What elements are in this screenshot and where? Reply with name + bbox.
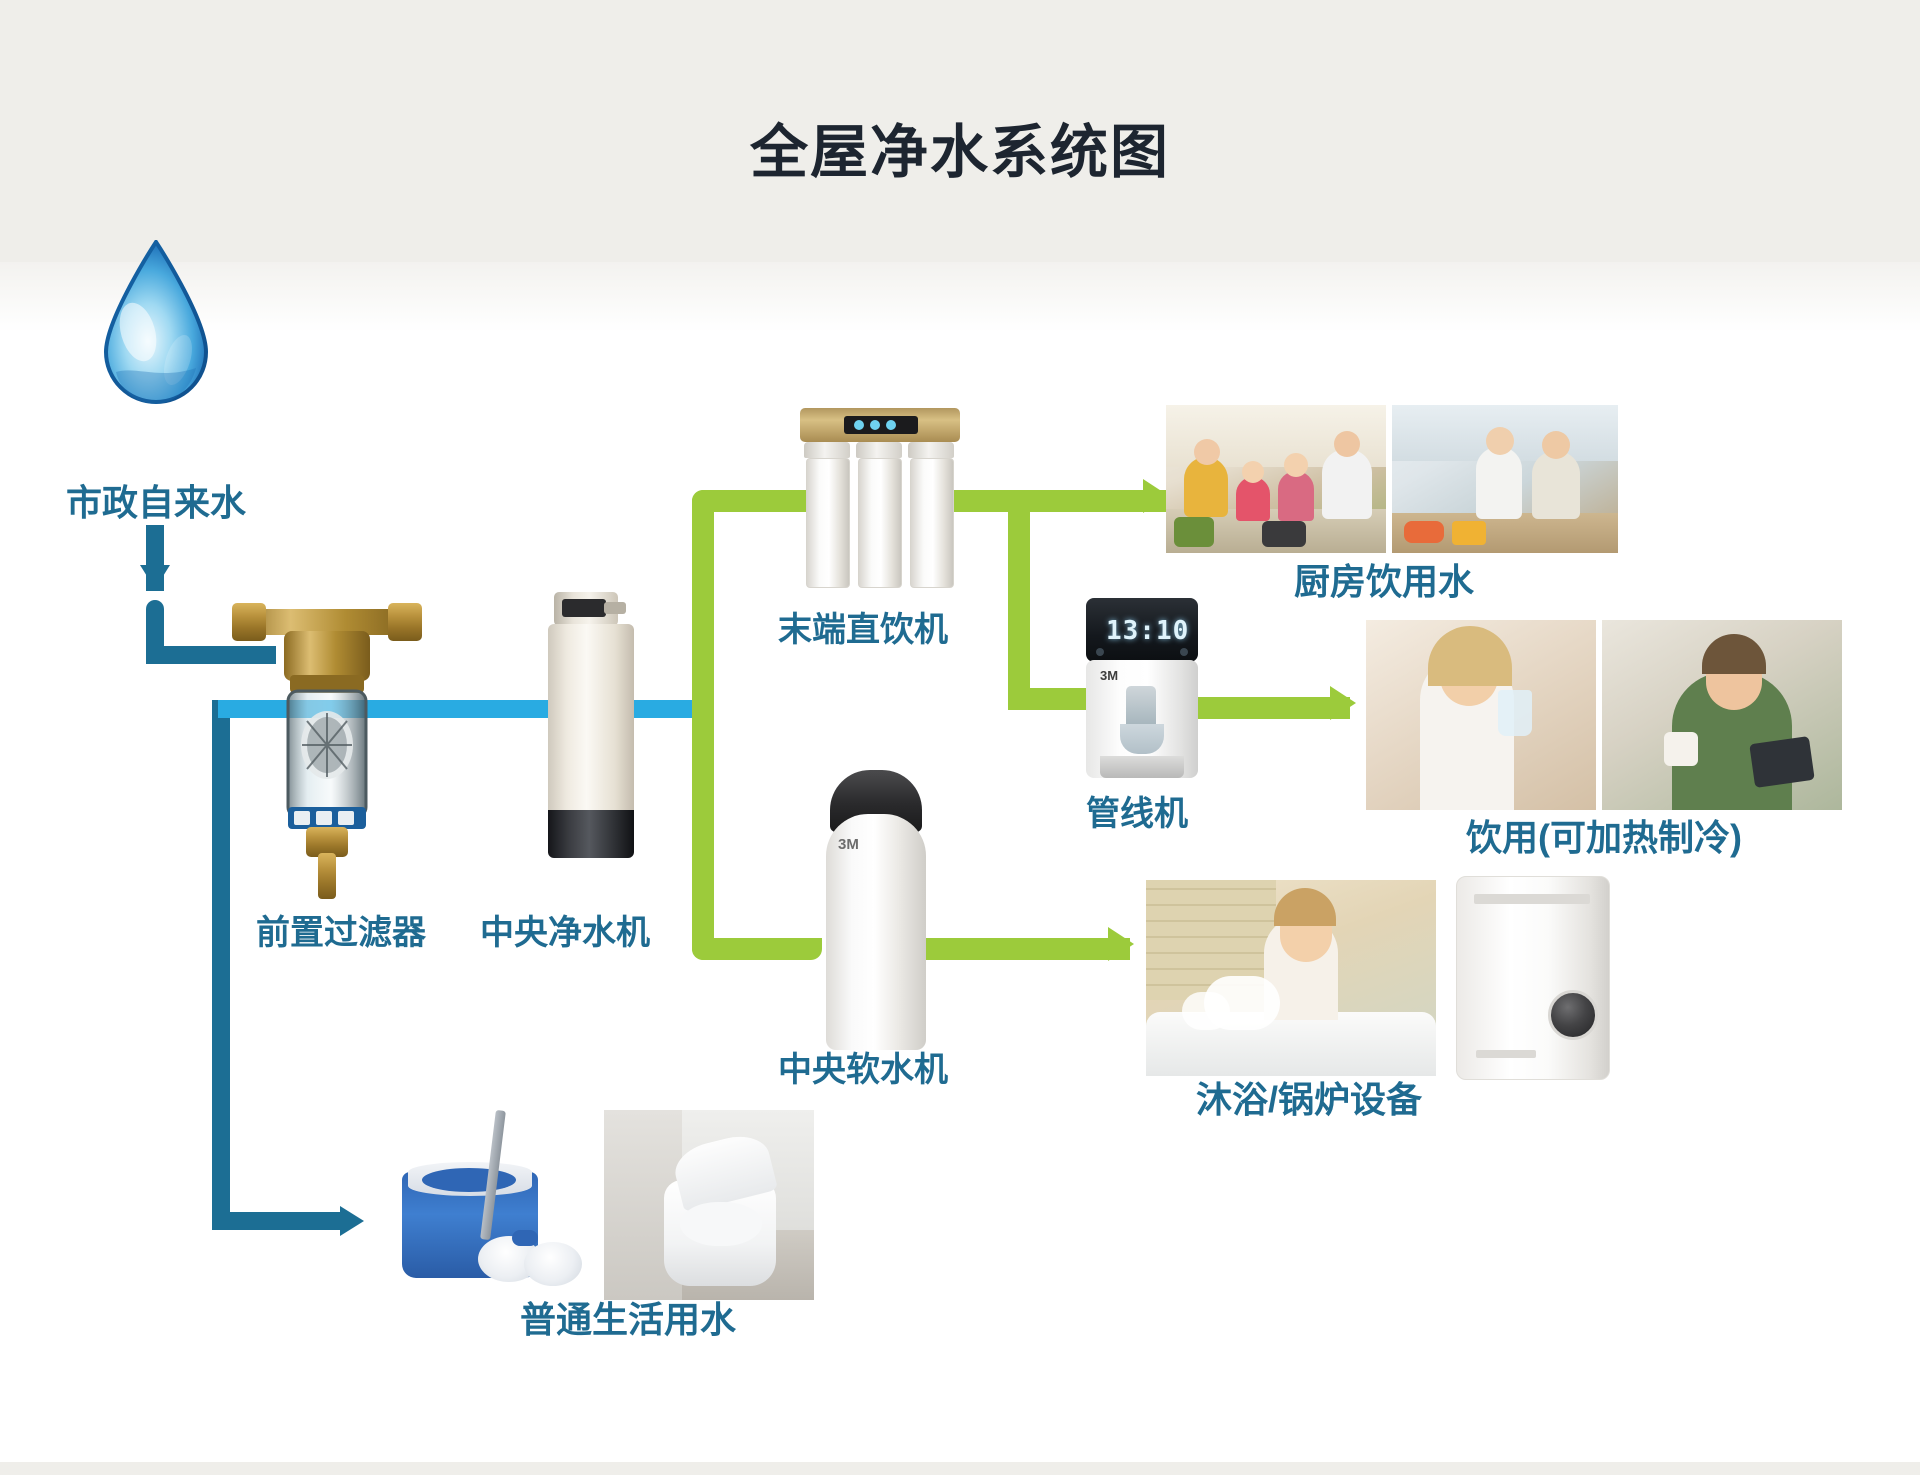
kitchen-output-label: 厨房饮用水: [1294, 562, 1474, 602]
water-drop-icon: [98, 240, 214, 408]
pipeline-machine-label: 管线机: [1086, 796, 1188, 833]
man-with-tablet-photo: [1602, 620, 1842, 810]
bathing-output-label: 沐浴/锅炉设备: [1196, 1080, 1422, 1120]
ro-unit-label: 末端直饮机: [778, 612, 948, 649]
arrow-bathing-right-icon: [1108, 927, 1134, 961]
dispenser-time-display: 13:10: [1106, 616, 1189, 646]
boiler-dial-icon: [1548, 990, 1598, 1040]
prefilter-device-icon: [232, 595, 422, 905]
toilet-photo: [604, 1110, 814, 1300]
pipe-ro-down-to-dispenser: [1008, 490, 1030, 710]
central-softener-label: 中央软水机: [778, 1052, 948, 1089]
pipe-dispenser-out-horizontal: [1190, 697, 1350, 719]
arrow-source-down-icon: [140, 565, 170, 589]
drinking-output-label: 饮用(可加热制冷): [1466, 818, 1742, 858]
source-label: 市政自来水: [66, 483, 246, 523]
pipe-green-to-softener: [692, 938, 822, 960]
arrow-drinking-right-icon: [1330, 686, 1356, 720]
pipe-dispenser-feed-horizontal: [1008, 688, 1088, 710]
footer-band: [0, 1462, 1920, 1475]
pipe-ro-out-horizontal: [940, 490, 1170, 512]
woman-drinking-water-photo: [1366, 620, 1596, 810]
mop-head-secondary-icon: [524, 1242, 582, 1286]
water-softener-icon: 3M: [826, 770, 926, 1050]
woman-bathtub-photo: [1146, 880, 1436, 1076]
women-kitchen-photo: [1392, 405, 1618, 553]
pipe-domestic-trunk-horizontal: [212, 1212, 342, 1230]
softener-brand-label: 3M: [838, 836, 859, 853]
pipe-corner-source: [146, 646, 182, 664]
pipe-green-riser: [692, 490, 714, 960]
dispenser-brand-label: 3M: [1100, 668, 1118, 683]
central-purifier-tank-icon: [540, 592, 645, 862]
mop-bucket-photo: [392, 1110, 602, 1300]
arrow-domestic-right-icon: [340, 1206, 364, 1236]
pipeline-dispenser-icon: 13:10 3M: [1086, 598, 1198, 778]
prefilter-label: 前置过滤器: [256, 915, 426, 952]
wall-boiler-photo: [1452, 872, 1612, 1082]
source-node: [98, 240, 214, 408]
ro-drinking-unit-icon: [800, 408, 960, 588]
pipe-domestic-trunk-vertical: [212, 700, 230, 1230]
central-purifier-label: 中央净水机: [480, 915, 650, 952]
header-fade: [0, 262, 1920, 332]
domestic-output-label: 普通生活用水: [520, 1300, 736, 1340]
page-title: 全屋净水系统图: [0, 124, 1920, 182]
family-cooking-photo: [1166, 405, 1386, 553]
